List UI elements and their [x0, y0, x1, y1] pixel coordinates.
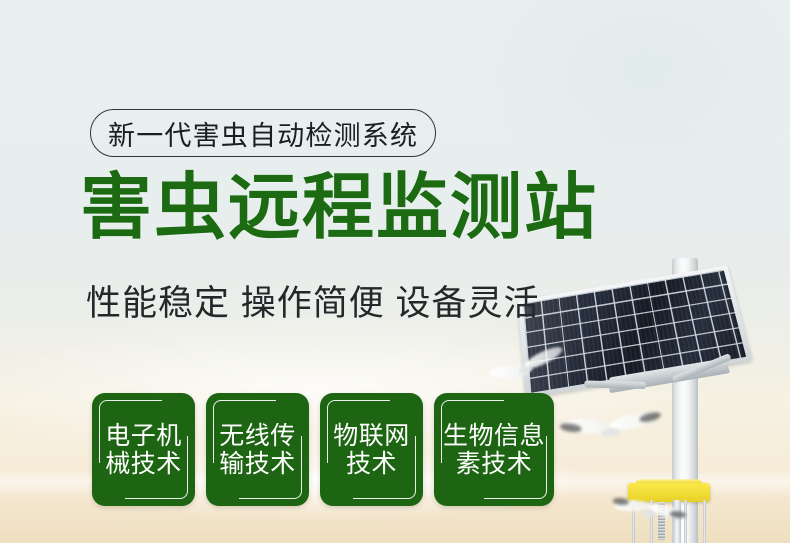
solar-panel-icon	[506, 244, 754, 410]
product-banner: 新一代害虫自动检测系统 害虫远程监测站 性能稳定 操作简便 设备灵活 电子机 械…	[0, 0, 790, 543]
feature-card-list: 电子机 械技术 无线传 输技术 物联网 技术 生物信息 素技术	[92, 393, 554, 506]
feature-card-wireless-transmission[interactable]: 无线传 输技术	[206, 393, 309, 506]
feature-card-label: 物联网 技术	[333, 422, 410, 478]
tagline-badge-label: 新一代害虫自动检测系统	[108, 114, 418, 153]
trap-rod	[650, 500, 653, 543]
trap-core-tube	[673, 500, 681, 543]
feature-card-label: 电子机 械技术	[105, 422, 182, 478]
trap-rod	[632, 500, 635, 543]
tagline-badge: 新一代害虫自动检测系统	[90, 109, 436, 157]
feature-card-iot[interactable]: 物联网 技术	[320, 393, 423, 506]
feature-card-label: 生物信息 素技术	[443, 422, 545, 478]
feature-card-electro-mechanical[interactable]: 电子机 械技术	[92, 393, 195, 506]
page-subtitle: 性能稳定 操作简便 设备灵活	[86, 283, 539, 325]
trap-coil	[658, 502, 665, 540]
feature-card-pheromone[interactable]: 生物信息 素技术	[434, 393, 554, 506]
trap-rod	[703, 500, 706, 543]
yellow-trap-unit	[628, 483, 710, 502]
trap-rod	[684, 500, 687, 543]
page-title: 害虫远程监测站	[80, 172, 598, 244]
panel-mount-arm-left	[584, 380, 646, 389]
moth-1-icon	[559, 405, 662, 456]
feature-card-label: 无线传 输技术	[219, 422, 296, 478]
